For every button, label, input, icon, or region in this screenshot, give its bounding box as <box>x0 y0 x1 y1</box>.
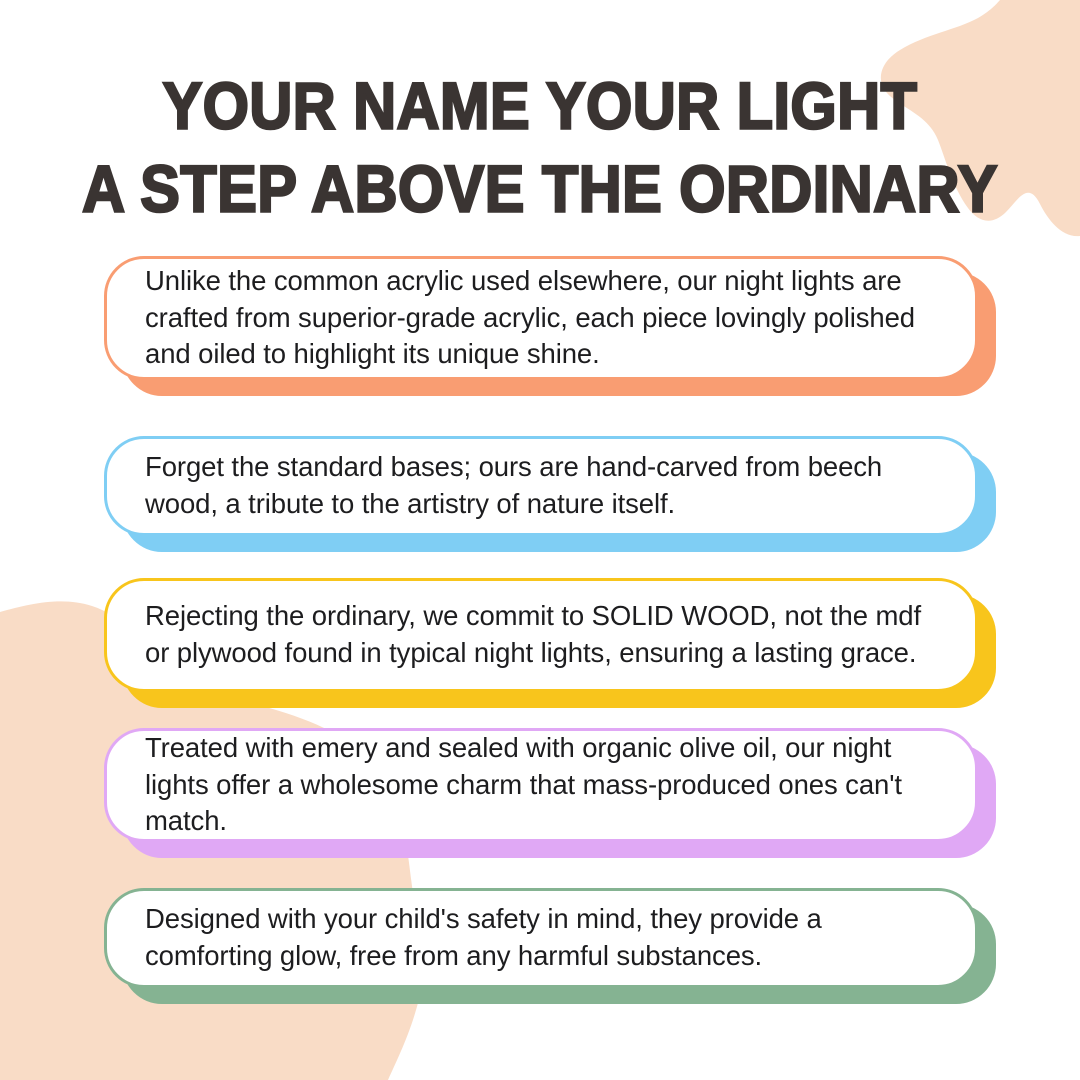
feature-card-4: Treated with emery and sealed with organ… <box>104 728 994 842</box>
card-face-2: Forget the standard bases; ours are hand… <box>104 436 978 536</box>
feature-card-3: Rejecting the ordinary, we commit to SOL… <box>104 578 994 692</box>
card-text-3: Rejecting the ordinary, we commit to SOL… <box>107 598 975 671</box>
feature-card-5: Designed with your child's safety in min… <box>104 888 994 988</box>
card-text-2: Forget the standard bases; ours are hand… <box>107 449 975 522</box>
card-text-1: Unlike the common acrylic used elsewhere… <box>107 263 975 373</box>
card-face-4: Treated with emery and sealed with organ… <box>104 728 978 842</box>
card-face-3: Rejecting the ordinary, we commit to SOL… <box>104 578 978 692</box>
page-title: YOUR NAME YOUR LIGHT A STEP ABOVE THE OR… <box>0 72 1080 212</box>
card-text-4: Treated with emery and sealed with organ… <box>107 730 975 840</box>
card-face-1: Unlike the common acrylic used elsewhere… <box>104 256 978 380</box>
card-face-5: Designed with your child's safety in min… <box>104 888 978 988</box>
feature-card-2: Forget the standard bases; ours are hand… <box>104 436 994 536</box>
page-title-line-2: A STEP ABOVE THE ORDINARY <box>0 155 1080 222</box>
feature-card-1: Unlike the common acrylic used elsewhere… <box>104 256 994 380</box>
card-text-5: Designed with your child's safety in min… <box>107 901 975 974</box>
poster-canvas: YOUR NAME YOUR LIGHT A STEP ABOVE THE OR… <box>0 0 1080 1080</box>
page-title-line-1: YOUR NAME YOUR LIGHT <box>0 72 1080 139</box>
